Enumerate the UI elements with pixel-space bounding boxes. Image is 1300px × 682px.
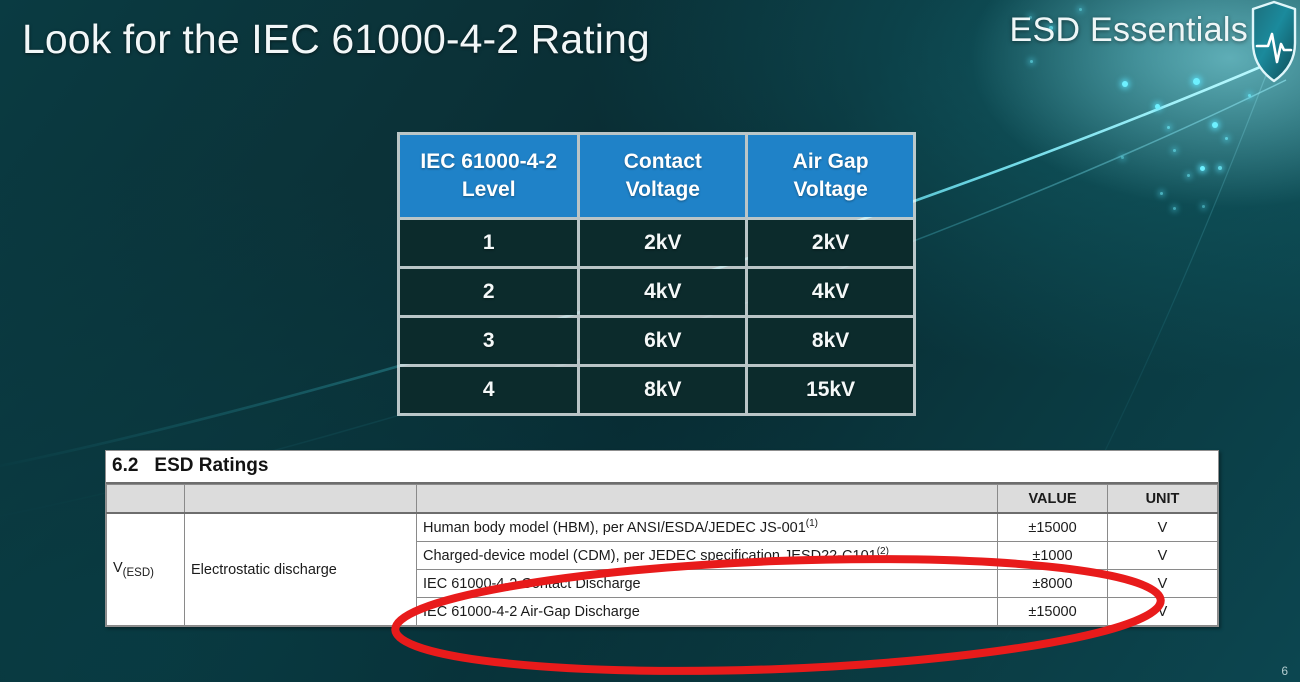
ds-description-cell: IEC 61000-4-2 Air-Gap Discharge bbox=[417, 598, 998, 626]
ds-description-text: IEC 61000-4-2 Contact Discharge bbox=[423, 576, 641, 592]
slide-canvas: Look for the IEC 61000-4-2 Rating ESD Es… bbox=[0, 0, 1300, 682]
page-number: 6 bbox=[1281, 664, 1288, 678]
column-header-airgap-line2: Voltage bbox=[793, 178, 867, 201]
cell-level: 1 bbox=[400, 220, 577, 266]
ds-value-cell: ±15000 bbox=[998, 513, 1108, 542]
section-number: 6.2 bbox=[112, 455, 138, 477]
cell-airgap: 4kV bbox=[748, 269, 913, 315]
ds-description-text: Charged-device model (CDM), per JEDEC sp… bbox=[423, 548, 877, 564]
cell-level: 2 bbox=[400, 269, 577, 315]
cell-level: 3 bbox=[400, 318, 577, 364]
ds-unit-cell: V bbox=[1108, 598, 1218, 626]
ds-description-text: Human body model (HBM), per ANSI/ESDA/JE… bbox=[423, 520, 806, 536]
ds-col-unit: UNIT bbox=[1108, 485, 1218, 514]
ds-description-cell: IEC 61000-4-2 Contact Discharge bbox=[417, 570, 998, 598]
table-row: 2 4kV 4kV bbox=[400, 269, 913, 315]
ds-col-value: VALUE bbox=[998, 485, 1108, 514]
cell-contact: 8kV bbox=[580, 367, 745, 413]
ds-value-cell: ±1000 bbox=[998, 542, 1108, 570]
column-header-contact-voltage: Contact Voltage bbox=[580, 135, 745, 217]
column-header-level: IEC 61000-4-2 Level bbox=[400, 135, 577, 217]
ds-symbol-text: V bbox=[113, 560, 123, 576]
column-header-contact-line1: Contact bbox=[624, 150, 702, 173]
column-header-contact-line2: Voltage bbox=[626, 178, 700, 201]
ds-col-parameter bbox=[185, 485, 417, 514]
ds-unit-cell: V bbox=[1108, 542, 1218, 570]
cell-level: 4 bbox=[400, 367, 577, 413]
ds-description-cell: Charged-device model (CDM), per JEDEC sp… bbox=[417, 542, 998, 570]
ds-footnote-marker: (1) bbox=[806, 518, 818, 529]
cell-airgap: 8kV bbox=[748, 318, 913, 364]
cell-airgap: 2kV bbox=[748, 220, 913, 266]
ds-symbol-subscript: (ESD) bbox=[123, 567, 154, 579]
ds-header-row: VALUE UNIT bbox=[107, 485, 1218, 514]
ds-description-cell: Human body model (HBM), per ANSI/ESDA/JE… bbox=[417, 513, 998, 542]
shield-heartbeat-icon bbox=[1251, 0, 1297, 86]
datasheet-section-heading: 6.2 ESD Ratings bbox=[106, 451, 1218, 484]
column-header-airgap-line1: Air Gap bbox=[793, 150, 869, 173]
section-title: ESD Ratings bbox=[154, 455, 268, 477]
datasheet-excerpt: 6.2 ESD Ratings VALUE UNIT V(ESD) bbox=[105, 450, 1219, 627]
table-row: 1 2kV 2kV bbox=[400, 220, 913, 266]
table-row: 3 6kV 8kV bbox=[400, 318, 913, 364]
cell-contact: 6kV bbox=[580, 318, 745, 364]
column-header-level-line1: IEC 61000-4-2 bbox=[420, 150, 557, 173]
ds-value-cell: ±8000 bbox=[998, 570, 1108, 598]
ds-parameter-cell: Electrostatic discharge bbox=[185, 513, 417, 626]
ds-col-description bbox=[417, 485, 998, 514]
ds-footnote-marker: (2) bbox=[877, 546, 889, 557]
brand-label: ESD Essentials bbox=[1009, 11, 1248, 50]
ds-unit-cell: V bbox=[1108, 513, 1218, 542]
esd-ratings-table: VALUE UNIT V(ESD) Electrostatic discharg… bbox=[106, 484, 1218, 626]
ds-unit-cell: V bbox=[1108, 570, 1218, 598]
column-header-airgap-voltage: Air Gap Voltage bbox=[748, 135, 913, 217]
iec-level-table: IEC 61000-4-2 Level Contact Voltage Air … bbox=[397, 132, 916, 416]
ds-description-text: IEC 61000-4-2 Air-Gap Discharge bbox=[423, 604, 640, 620]
cell-airgap: 15kV bbox=[748, 367, 913, 413]
page-title: Look for the IEC 61000-4-2 Rating bbox=[22, 16, 650, 63]
ds-symbol-cell: V(ESD) bbox=[107, 513, 185, 626]
ds-value-cell: ±15000 bbox=[998, 598, 1108, 626]
table-row: 4 8kV 15kV bbox=[400, 367, 913, 413]
column-header-level-line2: Level bbox=[462, 178, 516, 201]
table-header-row: IEC 61000-4-2 Level Contact Voltage Air … bbox=[400, 135, 913, 217]
cell-contact: 4kV bbox=[580, 269, 745, 315]
table-row: V(ESD) Electrostatic discharge Human bod… bbox=[107, 513, 1218, 542]
cell-contact: 2kV bbox=[580, 220, 745, 266]
ds-col-symbol bbox=[107, 485, 185, 514]
